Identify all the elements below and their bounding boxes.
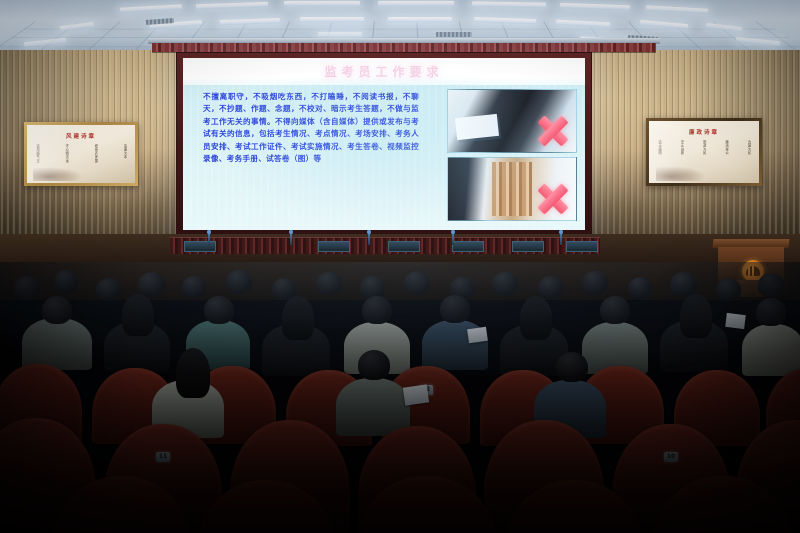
slide-title: 监考员工作要求 <box>324 63 443 80</box>
attendee-head <box>404 271 430 295</box>
attendee-head <box>316 272 342 295</box>
handout-paper <box>467 327 488 344</box>
ceiling-lamp <box>300 17 364 22</box>
attendee-head <box>138 272 165 297</box>
ceiling-lamp <box>646 5 708 13</box>
table-microphone <box>560 232 562 245</box>
red-x-icon <box>534 180 572 218</box>
ceiling-lamp <box>196 2 268 10</box>
slide-title-band: 监考员工作要求 <box>183 58 585 85</box>
attendee-head <box>628 277 652 299</box>
attendee-torso <box>336 378 410 436</box>
ceiling-lamp <box>284 1 360 6</box>
artwork-canvas: 廉政诗章 清正廉明 守正创新 勤政为民 廉洁奉公 为国为民 <box>649 121 759 183</box>
projection-screen: 监考员工作要求 不擅离职守，不吸烟吃东西，不打瞌睡，不阅读书报，不聊天，不抄题、… <box>176 52 592 236</box>
artwork-column: 守正创新 <box>679 140 684 155</box>
artwork-column: 修身齐家国 <box>93 144 98 163</box>
name-placard <box>388 241 420 252</box>
ceiling-lamp <box>24 38 66 47</box>
attendee-head <box>582 271 608 295</box>
attendee-torso <box>742 324 800 376</box>
name-placard <box>512 241 544 252</box>
table-microphone <box>452 232 454 245</box>
slide-body: 不擅离职守，不吸烟吃东西，不打瞌睡，不阅读书报，不聊天，不抄题、作题、念题，不校… <box>183 85 585 230</box>
attendee-head <box>538 276 563 299</box>
audience-seating: 12 11 10 <box>0 262 800 533</box>
ceiling-lamp <box>556 20 610 28</box>
artwork-column: 清风廉气正 <box>35 144 40 163</box>
ink-wash-accent <box>33 167 83 181</box>
attendee-head <box>204 296 234 324</box>
artwork-column: 为国为民 <box>746 140 751 155</box>
attendee-head <box>54 270 78 293</box>
auditorium-photo: 风建诗章 清风廉气正 守心明志远 修身齐家国 清廉为本 廉政诗章 清正廉明 守正… <box>0 0 800 533</box>
notebook-page <box>403 384 429 405</box>
attendee-head <box>226 270 252 294</box>
name-placard <box>452 241 484 252</box>
wall-artwork-right: 廉政诗章 清正廉明 守正创新 勤政为民 廉洁奉公 为国为民 <box>646 118 762 186</box>
attendee-head <box>716 278 741 301</box>
table-microphone <box>208 232 210 245</box>
artwork-column: 清廉为本 <box>122 144 127 163</box>
ceiling-lamp <box>474 17 536 24</box>
table-microphone <box>368 232 370 245</box>
ceiling-lamp <box>318 32 362 37</box>
artwork-heading: 廉政诗章 <box>649 128 759 136</box>
artwork-canvas: 风建诗章 清风廉气正 守心明志远 修身齐家国 清廉为本 <box>27 125 135 183</box>
name-placard <box>318 241 350 252</box>
seat-number-badge: 11 <box>156 452 170 462</box>
name-placard <box>566 241 598 252</box>
attendee-hair <box>282 296 314 340</box>
slide-body-text: 不擅离职守，不吸烟吃东西，不打瞌睡，不阅读书报，不聊天，不抄题、作题、念题，不校… <box>203 91 419 165</box>
attendee-head <box>182 276 206 298</box>
attendee-head <box>758 273 784 297</box>
attendee-head <box>600 296 630 324</box>
attendee-head <box>14 276 40 300</box>
attendee-head <box>358 350 390 380</box>
wall-artwork-left: 风建诗章 清风廉气正 守心明志远 修身齐家国 清廉为本 <box>24 122 138 186</box>
attendee-head <box>96 278 121 301</box>
attendee-head <box>362 296 392 324</box>
ceiling-lamp <box>378 1 454 6</box>
attendee-head <box>556 352 588 382</box>
photo-invigilator-checking-papers <box>447 89 577 153</box>
attendee-head <box>440 295 470 323</box>
ceiling-lamp <box>640 20 688 29</box>
attendee-hair <box>122 294 154 336</box>
ceiling-lamp <box>560 3 630 10</box>
artwork-columns: 清正廉明 守正创新 勤政为民 廉洁奉公 为国为民 <box>657 140 751 155</box>
attendee-head <box>756 298 786 326</box>
ceiling-lamp <box>120 4 182 12</box>
name-placard <box>184 241 216 252</box>
handout-paper <box>725 313 746 329</box>
attendee-hair <box>520 296 552 340</box>
ink-wash-accent <box>656 166 707 181</box>
red-x-icon <box>534 112 572 150</box>
artwork-column: 守心明志远 <box>64 144 69 163</box>
photo-invigilator-at-desk <box>447 157 577 221</box>
ceiling-lamp <box>736 37 780 47</box>
attendee-hair <box>680 294 712 338</box>
slide-photo-group <box>447 89 575 225</box>
attendee-hair <box>176 348 210 398</box>
table-microphone <box>290 232 292 245</box>
artwork-column: 清正廉明 <box>657 140 662 155</box>
seat-number-badge: 10 <box>664 452 678 462</box>
artwork-column: 廉洁奉公 <box>724 140 729 155</box>
ceiling-lamp <box>472 1 546 7</box>
presentation-slide: 监考员工作要求 不擅离职守，不吸烟吃东西，不打瞌睡，不阅读书报，不聊天，不抄题、… <box>183 58 585 230</box>
artwork-column: 勤政为民 <box>702 140 707 155</box>
ceiling-lamp <box>388 17 452 22</box>
artwork-heading: 风建诗章 <box>27 132 135 140</box>
attendee-head <box>492 272 518 296</box>
artwork-columns: 清风廉气正 守心明志远 修身齐家国 清廉为本 <box>35 144 127 163</box>
ceiling-lamp <box>220 18 280 25</box>
attendee-head <box>42 296 72 324</box>
ceiling-lamp <box>60 22 94 31</box>
attendee-torso <box>22 318 92 370</box>
decorative-cornice-band <box>152 43 656 52</box>
ceiling-air-vent <box>436 32 472 37</box>
ceiling-lamp <box>706 23 742 32</box>
